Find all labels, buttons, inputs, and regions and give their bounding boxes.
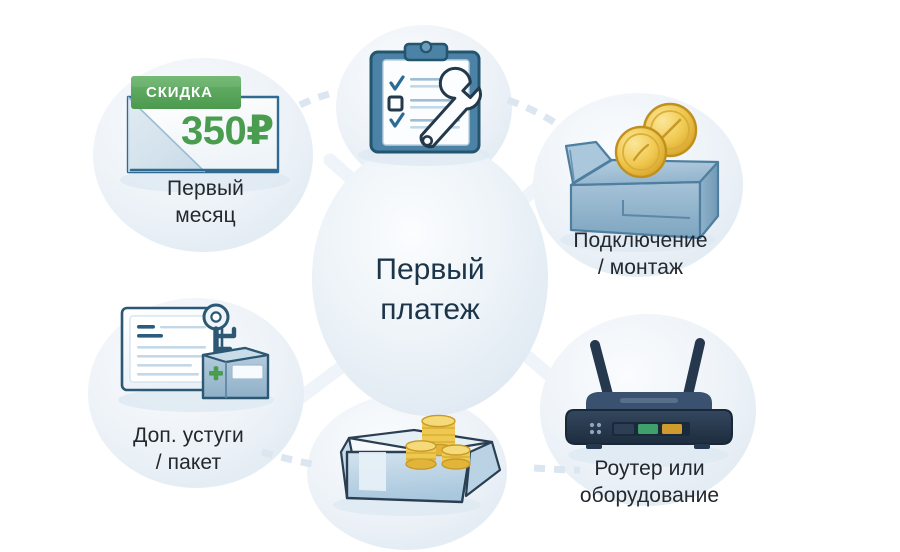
- label-router-line1: Роутер или: [532, 456, 767, 483]
- center-label-line1: Первый: [300, 250, 560, 290]
- label-extra-services: Доп. устуги / пакет: [76, 423, 301, 476]
- center-label-line2: платеж: [300, 290, 560, 330]
- label-first-month-line1: Первый: [93, 176, 318, 203]
- label-extra-services-line2: / пакет: [76, 450, 301, 477]
- label-router-line2: оборудование: [532, 483, 767, 510]
- label-connection: Подключение / монтаж: [528, 228, 753, 281]
- label-first-month: Первый месяц: [93, 176, 318, 229]
- discount-badge-text: СКИДКА: [146, 84, 213, 101]
- center-label: Первый платеж: [300, 250, 560, 329]
- label-connection-line2: / монтаж: [528, 255, 753, 282]
- label-extra-services-line1: Доп. устуги: [76, 423, 301, 450]
- infographic-canvas: Первый платеж СКИДКА 350₽ Первый месяц П…: [0, 0, 900, 552]
- infographic-text: Первый платеж СКИДКА 350₽ Первый месяц П…: [0, 0, 900, 552]
- discount-amount-text: 350₽: [181, 108, 274, 154]
- label-connection-line1: Подключение: [528, 228, 753, 255]
- label-router: Роутер или оборудование: [532, 456, 767, 509]
- label-first-month-line2: месяц: [93, 203, 318, 230]
